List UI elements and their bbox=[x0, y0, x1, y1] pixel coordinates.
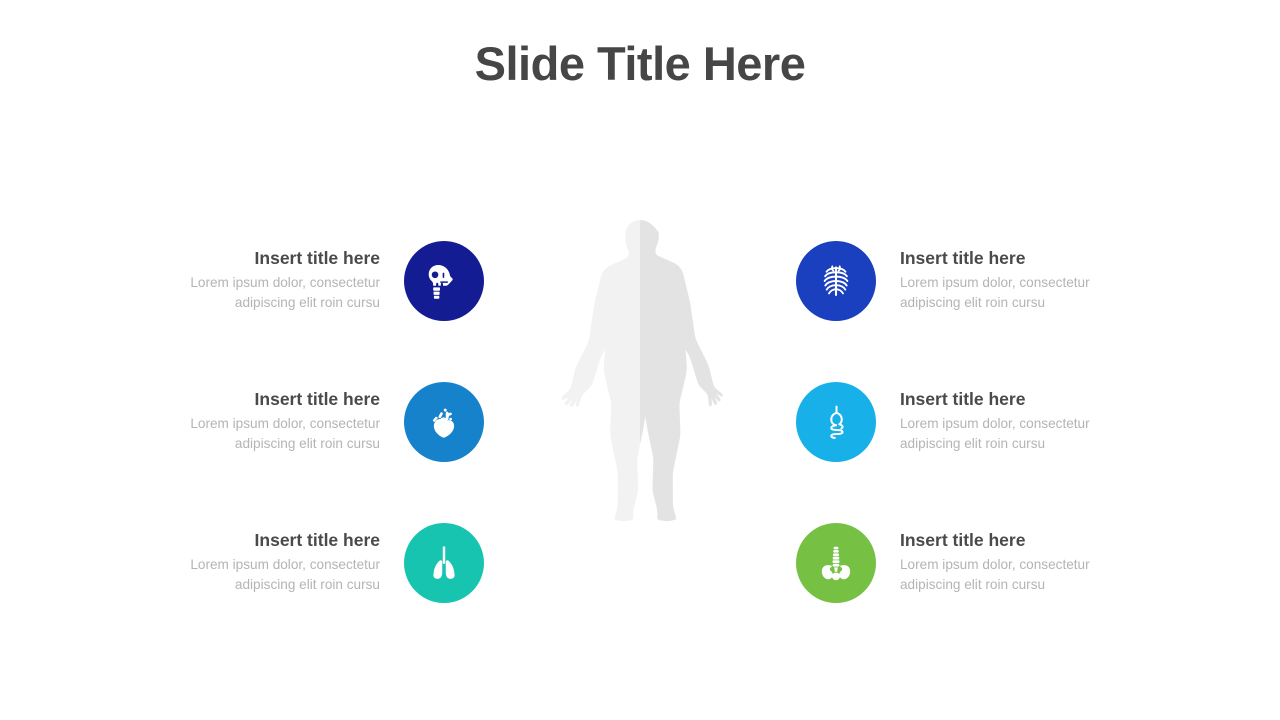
skull-icon[interactable] bbox=[404, 241, 484, 321]
list-item-left-2[interactable]: Insert title here Lorem ipsum dolor, con… bbox=[148, 379, 484, 465]
page-title: Slide Title Here bbox=[0, 38, 1280, 90]
item-title: Insert title here bbox=[900, 389, 1132, 411]
item-description: Lorem ipsum dolor, consectetur adipiscin… bbox=[148, 273, 380, 314]
item-title: Insert title here bbox=[900, 248, 1132, 270]
item-title: Insert title here bbox=[148, 248, 380, 270]
list-item-left-3[interactable]: Insert title here Lorem ipsum dolor, con… bbox=[148, 520, 484, 606]
text-block: Insert title here Lorem ipsum dolor, con… bbox=[876, 248, 1132, 314]
list-item-right-1[interactable]: Insert title here Lorem ipsum dolor, con… bbox=[796, 238, 1132, 324]
item-title: Insert title here bbox=[900, 530, 1132, 552]
stomach-icon[interactable] bbox=[796, 382, 876, 462]
ribcage-icon[interactable] bbox=[796, 241, 876, 321]
item-title: Insert title here bbox=[148, 530, 380, 552]
pelvis-icon[interactable] bbox=[796, 523, 876, 603]
item-description: Lorem ipsum dolor, consectetur adipiscin… bbox=[900, 273, 1132, 314]
list-item-right-2[interactable]: Insert title here Lorem ipsum dolor, con… bbox=[796, 379, 1132, 465]
slide-canvas: Slide Title Here Insert title here Lorem… bbox=[0, 0, 1280, 720]
list-item-left-1[interactable]: Insert title here Lorem ipsum dolor, con… bbox=[148, 238, 484, 324]
text-block: Insert title here Lorem ipsum dolor, con… bbox=[148, 389, 404, 455]
list-item-right-3[interactable]: Insert title here Lorem ipsum dolor, con… bbox=[796, 520, 1132, 606]
text-block: Insert title here Lorem ipsum dolor, con… bbox=[148, 248, 404, 314]
item-description: Lorem ipsum dolor, consectetur adipiscin… bbox=[148, 414, 380, 455]
heart-icon[interactable] bbox=[404, 382, 484, 462]
item-title: Insert title here bbox=[148, 389, 380, 411]
human-body-silhouette bbox=[556, 218, 724, 642]
lungs-icon[interactable] bbox=[404, 523, 484, 603]
text-block: Insert title here Lorem ipsum dolor, con… bbox=[876, 530, 1132, 596]
text-block: Insert title here Lorem ipsum dolor, con… bbox=[876, 389, 1132, 455]
item-description: Lorem ipsum dolor, consectetur adipiscin… bbox=[900, 414, 1132, 455]
item-description: Lorem ipsum dolor, consectetur adipiscin… bbox=[900, 555, 1132, 596]
item-description: Lorem ipsum dolor, consectetur adipiscin… bbox=[148, 555, 380, 596]
text-block: Insert title here Lorem ipsum dolor, con… bbox=[148, 530, 404, 596]
